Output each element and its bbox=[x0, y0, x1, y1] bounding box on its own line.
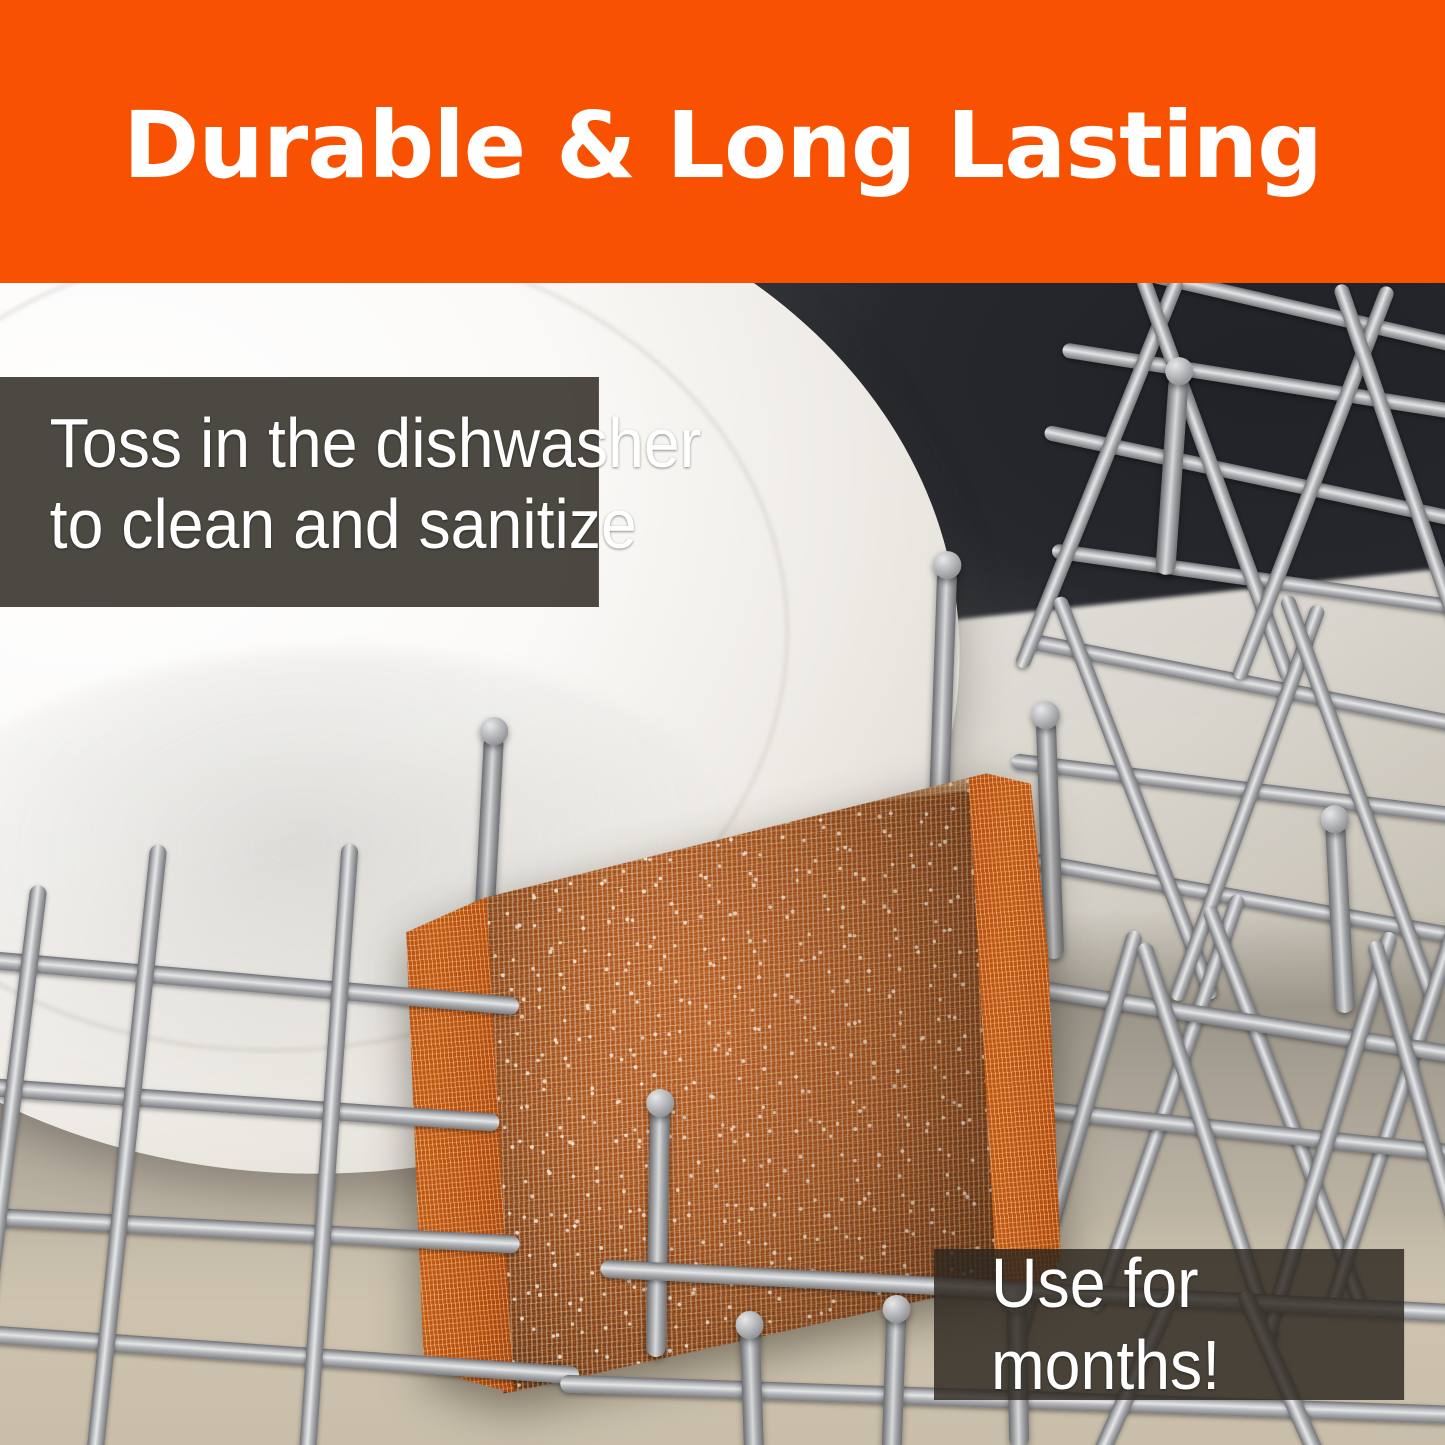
caption-dishwasher-safe: Toss in the dishwasher to clean and sani… bbox=[0, 377, 599, 607]
product-marketing-image: Durable & Long Lasting Toss in the dishw… bbox=[0, 0, 1445, 1445]
caption-use-for-months: Use for months! bbox=[934, 1249, 1404, 1400]
caption-top-line1: Toss in the dishwasher bbox=[50, 403, 599, 484]
caption-top-line2: to clean and sanitize bbox=[50, 484, 599, 565]
caption-bottom-text: Use for months! bbox=[991, 1243, 1404, 1405]
sponge-shading bbox=[464, 769, 1007, 1395]
banner-title: Durable & Long Lasting bbox=[123, 100, 1322, 192]
header-banner: Durable & Long Lasting bbox=[0, 0, 1445, 283]
